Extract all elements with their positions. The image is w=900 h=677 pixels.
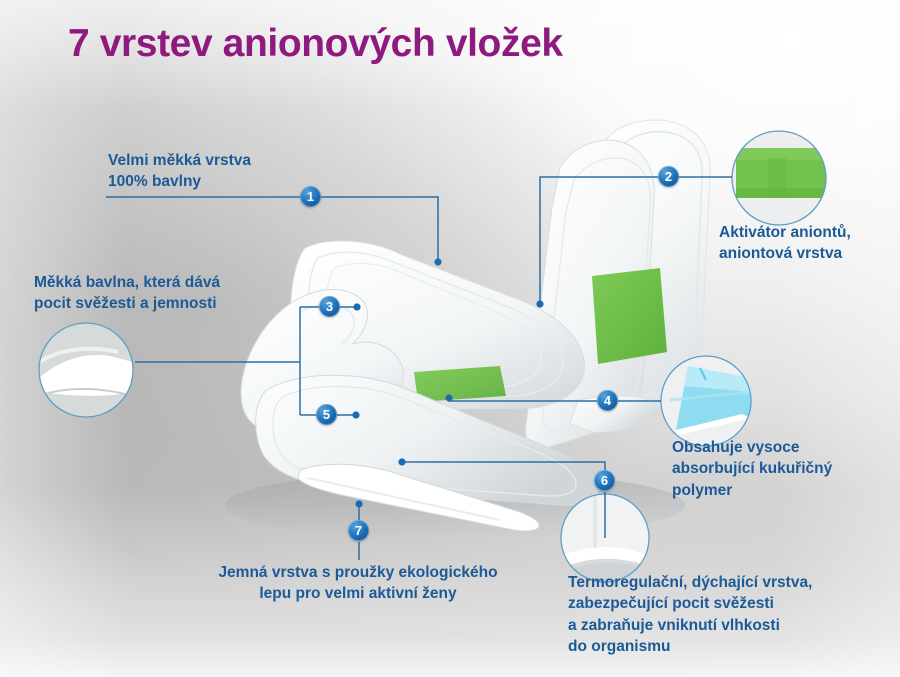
callout-badge-7[interactable]: 7: [348, 520, 369, 541]
callout-label-3-line-1: Měkká bavlna, která dává: [34, 272, 220, 293]
callout-label-3-line-2: pocit svěžesti a jemnosti: [34, 293, 220, 314]
callout-badge-2[interactable]: 2: [658, 166, 679, 187]
callout-label-7-line-1: Jemná vrstva s proužky ekologického: [198, 562, 518, 583]
callout-badge-6[interactable]: 6: [594, 470, 615, 491]
callout-label-6-line-1: Termoregulační, dýchající vrstva,: [568, 572, 812, 593]
page-title: 7 vrstev anionových vložek: [68, 22, 563, 66]
callout-label-1-line-1: Velmi měkká vrstva: [108, 150, 251, 171]
callout-label-6: Termoregulační, dýchající vrstva, zabezp…: [568, 572, 812, 658]
callout-badge-1[interactable]: 1: [300, 186, 321, 207]
callout-label-4-line-1: Obsahuje vysoce: [672, 437, 832, 458]
callout-label-6-line-4: do organismu: [568, 636, 812, 657]
anion-strip-lower: [414, 366, 506, 402]
anion-strip-upper: [592, 268, 667, 364]
infographic-canvas: 7 vrstev anionových vložek 1 2 3 4 5 6 7…: [0, 0, 900, 677]
callout-label-7: Jemná vrstva s proužky ekologického lepu…: [198, 562, 518, 605]
callout-label-2-line-1: Aktivátor aniontů,: [719, 222, 851, 243]
callout-label-6-line-3: a zabraňuje vniknutí vlhkosti: [568, 615, 812, 636]
callout-label-1: Velmi měkká vrstva 100% bavlny: [108, 150, 251, 193]
inset-circle-2: [732, 131, 828, 225]
callout-badge-3[interactable]: 3: [319, 296, 340, 317]
callout-label-4-line-3: polymer: [672, 480, 832, 501]
callout-label-3: Měkká bavlna, která dává pocit svěžesti …: [34, 272, 220, 315]
callout-label-1-line-2: 100% bavlny: [108, 171, 251, 192]
callout-label-4-line-2: absorbující kukuřičný: [672, 458, 832, 479]
callout-badge-5[interactable]: 5: [316, 404, 337, 425]
callout-label-4: Obsahuje vysoce absorbující kukuřičný po…: [672, 437, 832, 501]
callout-label-6-line-2: zabezpečující pocit svěžesti: [568, 593, 812, 614]
callout-label-7-line-2: lepu pro velmi aktivní ženy: [198, 583, 518, 604]
callout-badge-4[interactable]: 4: [597, 390, 618, 411]
callout-label-2-line-2: aniontová vrstva: [719, 243, 851, 264]
callout-label-2: Aktivátor aniontů, aniontová vrstva: [719, 222, 851, 265]
